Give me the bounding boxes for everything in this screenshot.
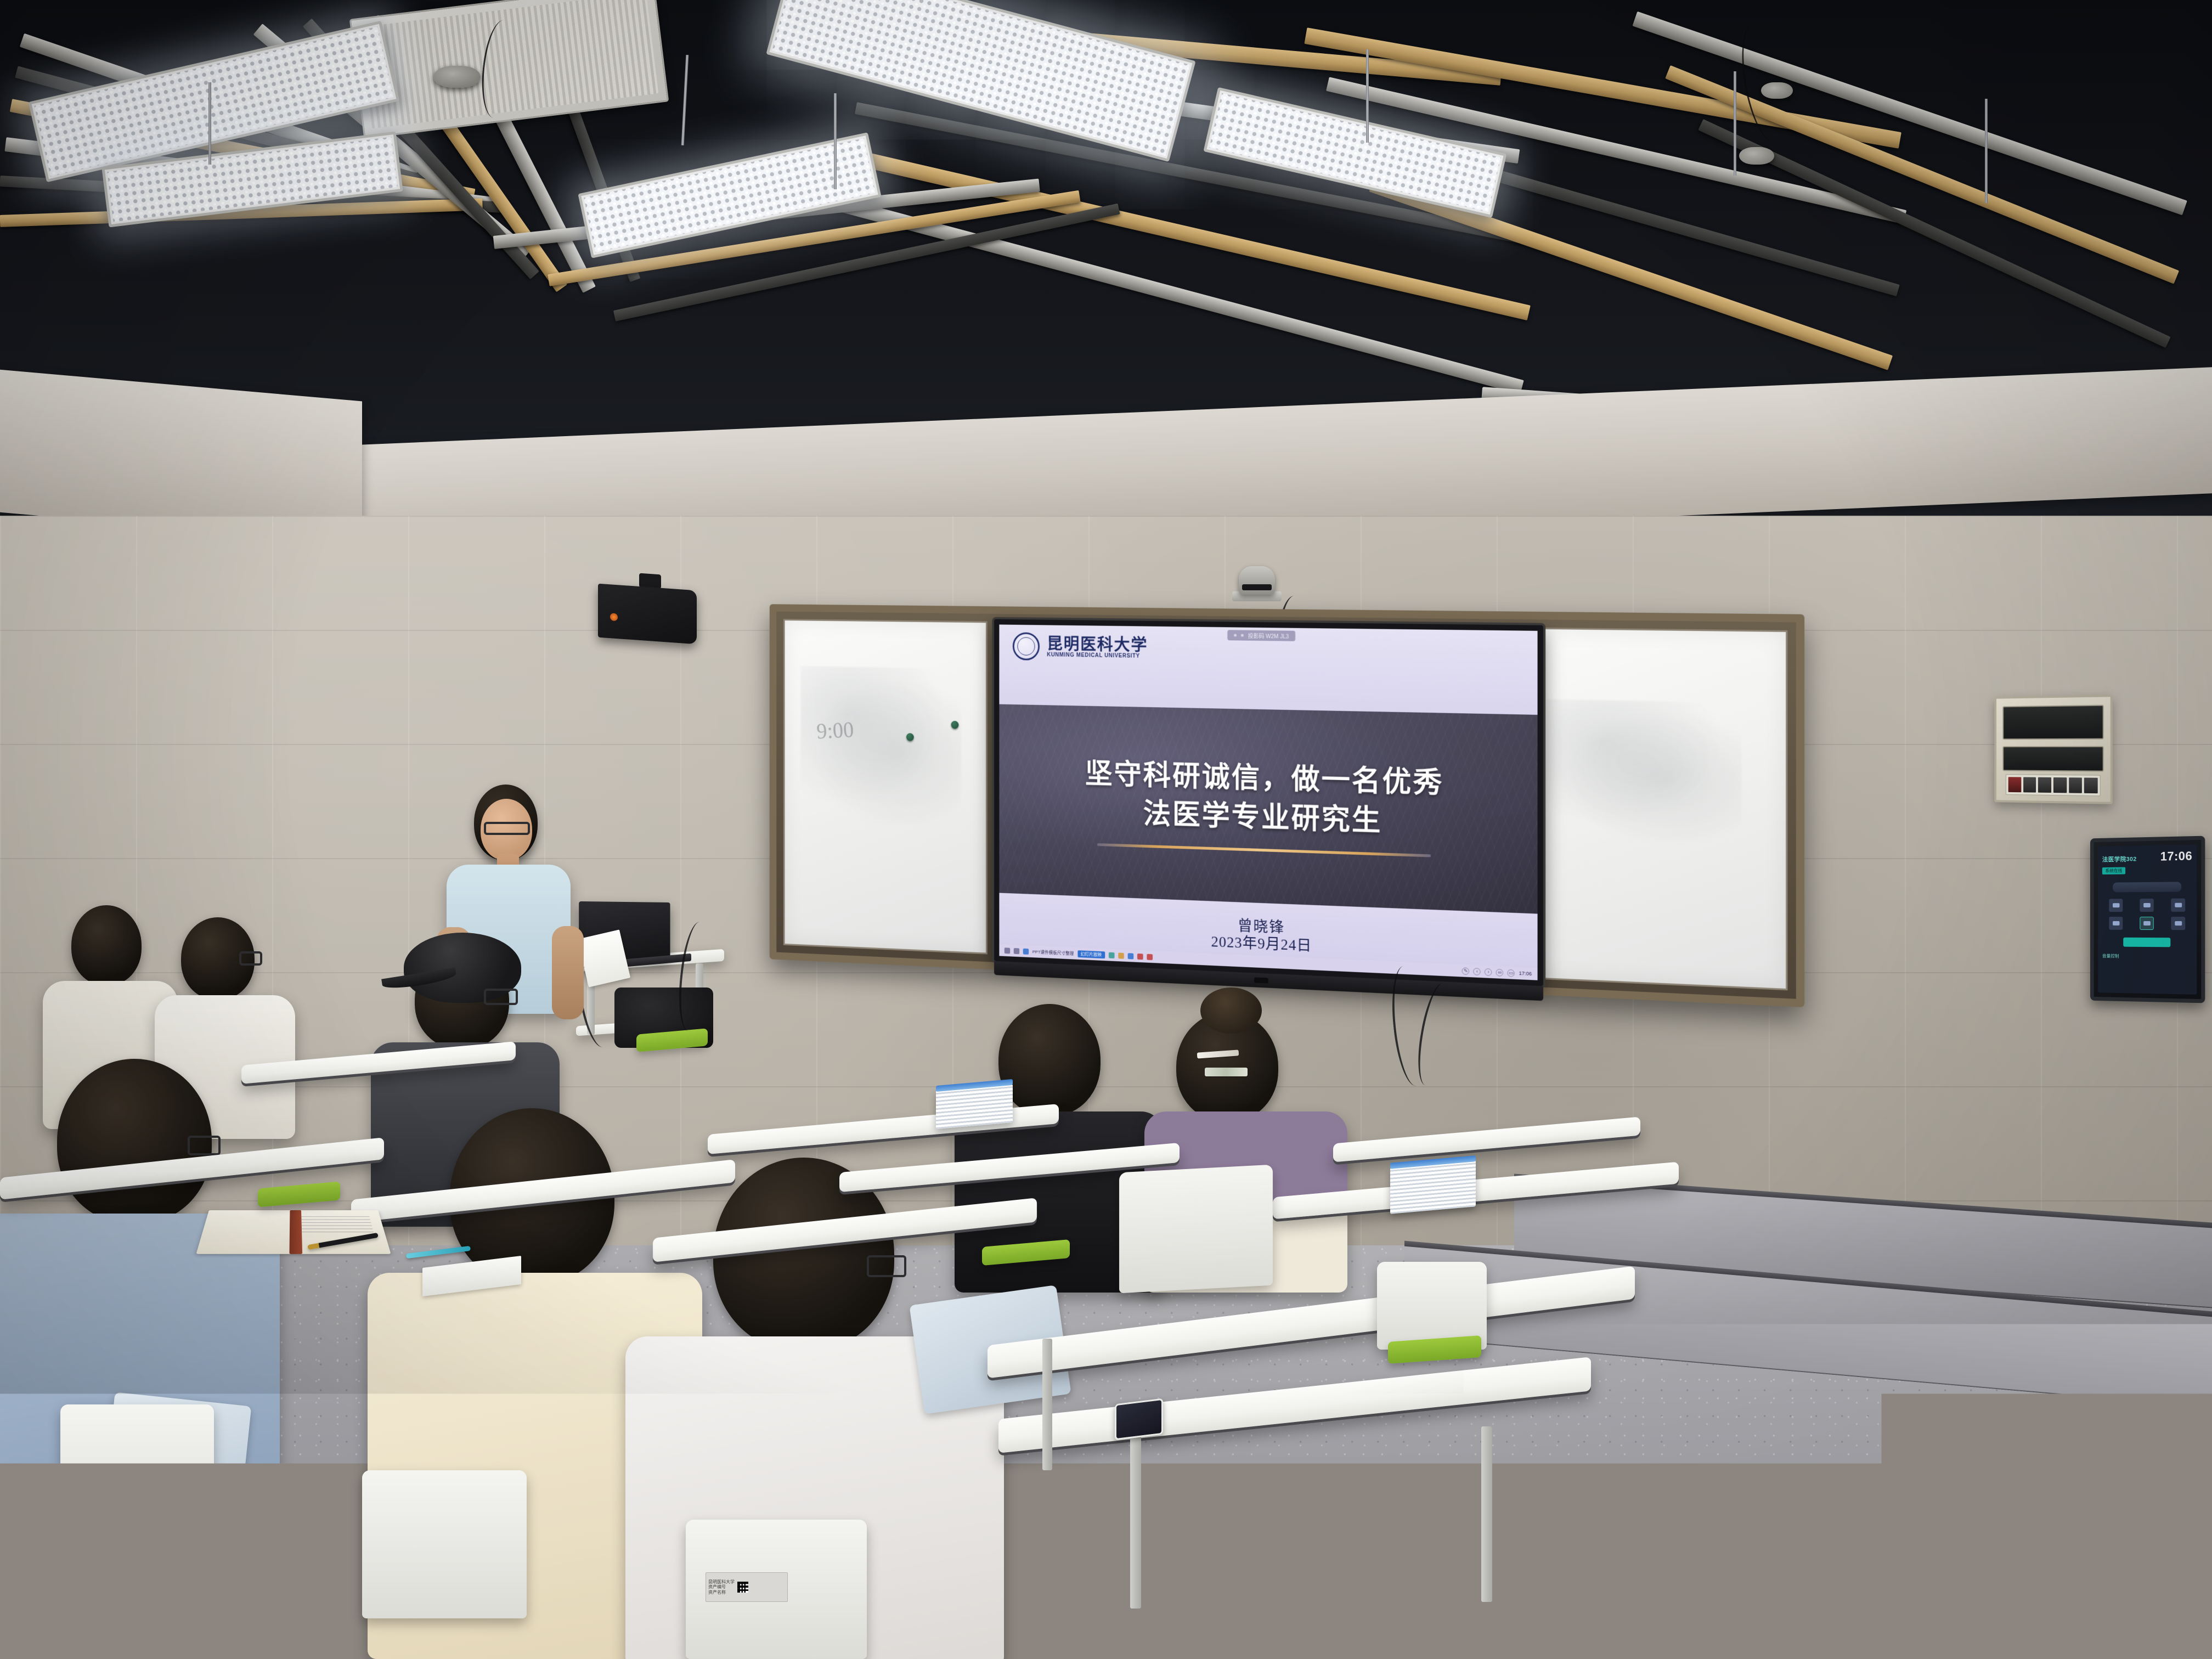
taskbar-clock: 17:06 xyxy=(1519,970,1532,977)
student-chair[interactable]: 昆明医科大学 资产编号 资产名称 xyxy=(686,1520,867,1659)
wireless-source-icon[interactable] xyxy=(2140,917,2153,930)
hair-bun xyxy=(1200,988,1262,1034)
qr-code-icon xyxy=(737,1582,748,1593)
control-panel-slider[interactable] xyxy=(2113,882,2181,892)
university-logo-block: 昆明医科大学 KUNMING MEDICAL UNIVERSITY xyxy=(999,624,1148,662)
av-control-touch-panel[interactable]: 法医学院302 17:06 系统在线 音量控制 xyxy=(2090,836,2205,1003)
cast-icon xyxy=(1241,634,1244,637)
projection-code-pill: 投影码 W2M JL3 xyxy=(1227,630,1295,641)
slide-title-line-1: 坚守科研诚信，做一名优秀 xyxy=(1085,757,1444,803)
doc-cam-source-icon[interactable] xyxy=(2109,917,2123,930)
presentation-slide: 投影码 W2M JL3 昆明医科大学 KUNMING MEDICAL UNIVE… xyxy=(999,624,1537,980)
control-panel-room-label: 法医学院302 xyxy=(2102,854,2137,864)
stack-of-handout-booklets xyxy=(936,1084,1013,1129)
slide-title-line-2: 法医学专业研究生 xyxy=(1143,797,1383,840)
university-name-en: KUNMING MEDICAL UNIVERSITY xyxy=(1047,652,1148,660)
pen-icon[interactable]: ✎ xyxy=(1462,967,1469,975)
slide-title-area: 坚守科研诚信，做一名优秀 法医学专业研究生 xyxy=(999,704,1537,913)
laptop-source-icon[interactable] xyxy=(2109,899,2123,912)
desktop-source-icon[interactable] xyxy=(2140,899,2153,912)
ceiling-speaker-icon xyxy=(1739,147,1774,165)
taskbar-app-title: PPT课件模板尺寸整理 xyxy=(1032,949,1074,956)
speaker-power-led xyxy=(610,613,618,621)
projection-code-text: 投影码 W2M JL3 xyxy=(1248,631,1289,640)
asset-tag-field: 资产编号 xyxy=(708,1584,735,1589)
taskbar-active-chip[interactable]: 幻灯片放映 xyxy=(1077,950,1105,958)
electrical-breaker-panel-icon[interactable] xyxy=(1994,695,2112,804)
university-name-cn: 昆明医科大学 xyxy=(1047,635,1148,653)
wall-speaker-icon xyxy=(598,584,697,645)
interactive-display-screen[interactable]: 投影码 W2M JL3 昆明医科大学 KUNMING MEDICAL UNIVE… xyxy=(994,619,1543,986)
student-chair[interactable] xyxy=(1119,1165,1273,1294)
control-panel-confirm-button[interactable] xyxy=(2124,938,2170,947)
app-icon[interactable] xyxy=(1118,952,1124,958)
patterned-hairclip-icon xyxy=(1205,1068,1248,1076)
search-icon[interactable] xyxy=(1014,948,1019,954)
app-icon[interactable] xyxy=(1023,948,1029,954)
breaker-switch-row[interactable] xyxy=(2006,774,2101,796)
windows-start-icon[interactable] xyxy=(1005,947,1010,953)
app-icon[interactable] xyxy=(1109,952,1115,958)
smartphone-face-down[interactable] xyxy=(1115,1398,1163,1441)
link-icon[interactable]: ∞ xyxy=(1496,968,1503,976)
open-notebook xyxy=(196,1210,391,1254)
ptz-camera-icon[interactable] xyxy=(1239,566,1275,595)
asset-tag-field: 资产名称 xyxy=(708,1590,735,1595)
student-chair[interactable] xyxy=(60,1404,214,1542)
student-chair[interactable] xyxy=(362,1470,527,1618)
slide-date: 2023年9月24日 xyxy=(1211,933,1312,955)
display-icon[interactable]: ▭ xyxy=(1508,969,1515,977)
app-icon[interactable] xyxy=(1127,953,1133,959)
classroom-photo: 9:00 投影码 W2M JL3 昆明医科大学 xyxy=(0,0,2212,1659)
dvd-source-icon[interactable] xyxy=(2171,917,2185,930)
whiteboard-left[interactable]: 9:00 xyxy=(783,619,988,954)
presenter-arm xyxy=(552,926,584,1019)
teaching-board-unit: 9:00 投影码 W2M JL3 昆明医科大学 xyxy=(770,604,1804,1007)
university-seal-icon xyxy=(1013,632,1040,660)
slide-presenter-name: 曾晓锋 xyxy=(1238,917,1285,936)
back-icon[interactable]: ‹ xyxy=(1474,968,1481,975)
control-panel-footer-label: 音量控制 xyxy=(2102,953,2192,960)
control-panel-source-grid[interactable] xyxy=(2102,899,2192,930)
slide-header-band: 投影码 W2M JL3 昆明医科大学 KUNMING MEDICAL UNIVE… xyxy=(999,624,1537,714)
ceiling-speaker-icon xyxy=(433,66,481,88)
glasses-icon xyxy=(484,822,530,835)
app-icon[interactable] xyxy=(1137,953,1143,960)
forward-icon[interactable]: › xyxy=(1485,968,1492,976)
stack-of-handout-booklets xyxy=(1390,1160,1476,1214)
control-panel-status-badge: 系统在线 xyxy=(2102,867,2125,874)
asset-tag: 昆明医科大学 资产编号 资产名称 xyxy=(706,1572,788,1602)
whiteboard-scribble: 9:00 xyxy=(816,718,855,744)
whiteboard-right[interactable] xyxy=(1513,627,1788,990)
app-icon[interactable] xyxy=(1147,953,1153,960)
slide-accent-rule xyxy=(1097,843,1431,857)
hdmi-source-icon[interactable] xyxy=(2171,899,2185,912)
control-panel-clock: 17:06 xyxy=(2160,849,2192,864)
